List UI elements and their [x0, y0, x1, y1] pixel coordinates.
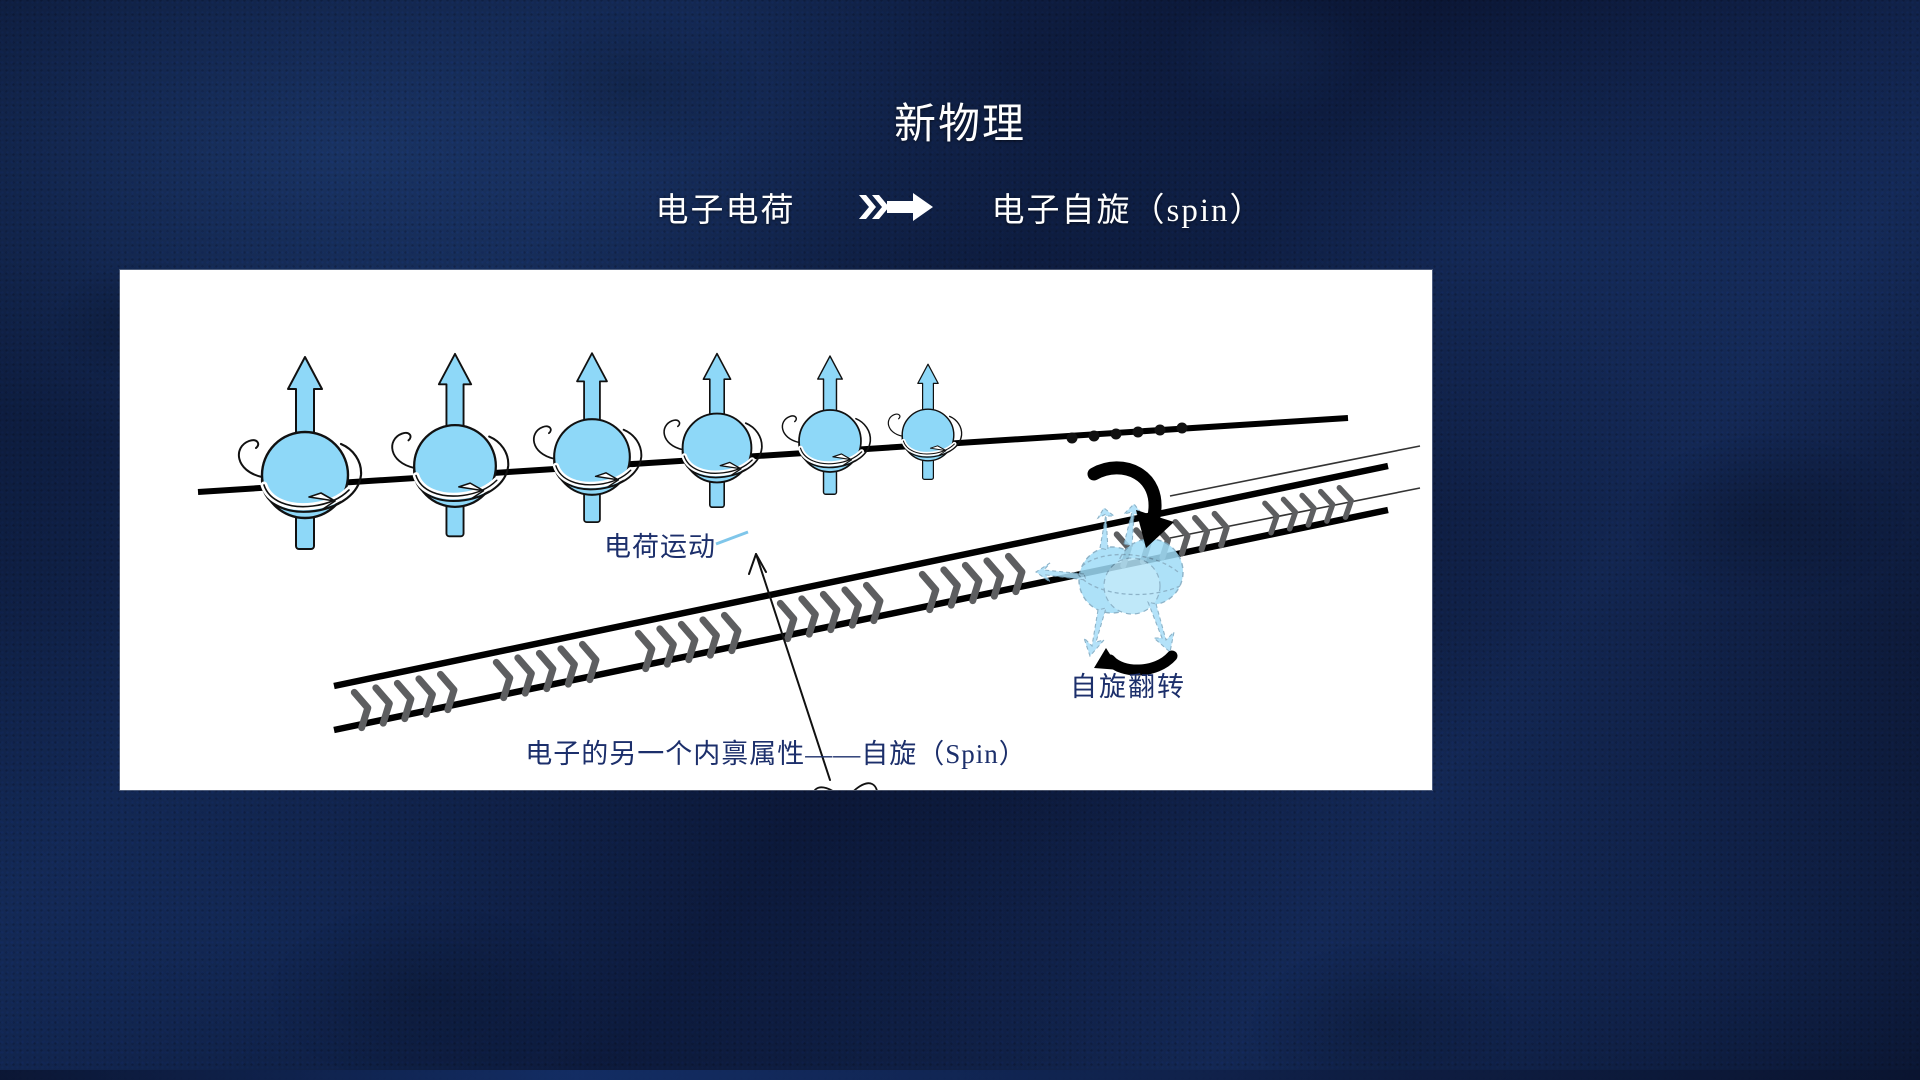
spin-sphere-1 [239, 357, 361, 549]
charge-motion-label: 电荷运动 [604, 532, 716, 562]
atom-icon [793, 775, 904, 790]
spin-sphere-6 [888, 364, 961, 479]
slide-root: 新物理 电子电荷 电子自旋（spin） [0, 0, 1920, 1080]
curved-arrow-left-icon [1094, 648, 1172, 670]
spin-flip-label: 自旋翻转 [1070, 672, 1186, 702]
diagram-panel: 电荷运动 自旋翻转 电子的另一个内禀属性——自旋（Spin） [120, 270, 1432, 790]
spin-sphere-3 [534, 353, 642, 522]
diagram-svg: 电荷运动 自旋翻转 电子的另一个内禀属性——自旋（Spin） [120, 270, 1432, 790]
spin-chain-axis [198, 418, 1348, 492]
subtitle-right-label: 电子自旋（spin） [991, 183, 1264, 231]
current-chevrons [354, 486, 1354, 728]
subtitle-left-label: 电子电荷 [655, 183, 795, 231]
footer-accent-bar [0, 1070, 1920, 1080]
double-chevron-arrow-right-icon [857, 190, 935, 224]
spin-sphere-2 [392, 354, 508, 536]
subtitle-row: 电子电荷 电子自旋（spin） [0, 183, 1920, 231]
diagram-caption: 电子的另一个内禀属性——自旋（Spin） [525, 739, 1027, 769]
charge-motion-tick [716, 532, 748, 544]
page-title: 新物理 [0, 90, 1920, 151]
spin-sphere-5 [782, 356, 870, 494]
current-channel [334, 446, 1420, 730]
spin-flip-cluster [1036, 468, 1183, 670]
spin-sphere-4 [664, 354, 762, 508]
